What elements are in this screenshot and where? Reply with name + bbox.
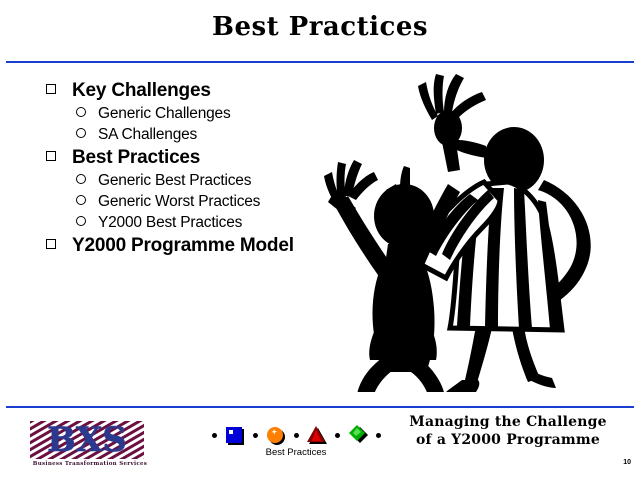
hollow-circle-icon: [76, 195, 86, 205]
logo-caption: Business Transformation Services: [22, 461, 158, 467]
page-number: 10: [623, 459, 631, 466]
page-title: Best Practices: [0, 12, 640, 42]
title-divider: [6, 61, 634, 63]
hollow-circle-icon: [76, 174, 86, 184]
hollow-square-icon: [46, 84, 56, 94]
hollow-circle-icon: [76, 216, 86, 226]
list-item-label: Generic Worst Practices: [98, 193, 260, 211]
footer-tagline: Managing the Challenge of a Y2000 Progra…: [392, 414, 624, 450]
hollow-circle-icon: [76, 107, 86, 117]
footer-tagline-line1: Managing the Challenge: [392, 414, 624, 432]
svg-text:BXS: BXS: [47, 420, 127, 460]
red-triangle-icon[interactable]: [306, 424, 328, 446]
clasped-hands: [418, 74, 486, 172]
list-item-label: SA Challenges: [98, 126, 197, 144]
separator-dot-icon: [335, 433, 340, 438]
separator-dot-icon: [294, 433, 299, 438]
list-item-label: Y2000 Best Practices: [98, 214, 242, 232]
separator-dot-icon: [376, 433, 381, 438]
celebrating-figures-illustration: [300, 72, 610, 392]
icon-navigation-strip: [196, 420, 396, 450]
separator-dot-icon: [253, 433, 258, 438]
hollow-square-icon: [46, 239, 56, 249]
list-item-label: Generic Best Practices: [98, 172, 251, 190]
footer-divider: [6, 406, 634, 408]
blue-square-icon[interactable]: [224, 424, 246, 446]
list-item-label: Key Challenges: [72, 80, 211, 102]
slide: Best Practices Key Challenges Generic Ch…: [0, 0, 640, 480]
list-item-label: Generic Challenges: [98, 105, 231, 123]
list-item-label: Y2000 Programme Model: [72, 235, 294, 257]
separator-dot-icon: [212, 433, 217, 438]
green-diamond-icon[interactable]: [347, 424, 369, 446]
footer-tagline-line2: of a Y2000 Programme: [392, 432, 624, 450]
hollow-square-icon: [46, 151, 56, 161]
orange-circle-icon[interactable]: [265, 424, 287, 446]
list-item-label: Best Practices: [72, 147, 200, 169]
bxs-logo: BXS: [22, 418, 152, 462]
icon-strip-caption: Best Practices: [196, 447, 396, 458]
hollow-circle-icon: [76, 128, 86, 138]
